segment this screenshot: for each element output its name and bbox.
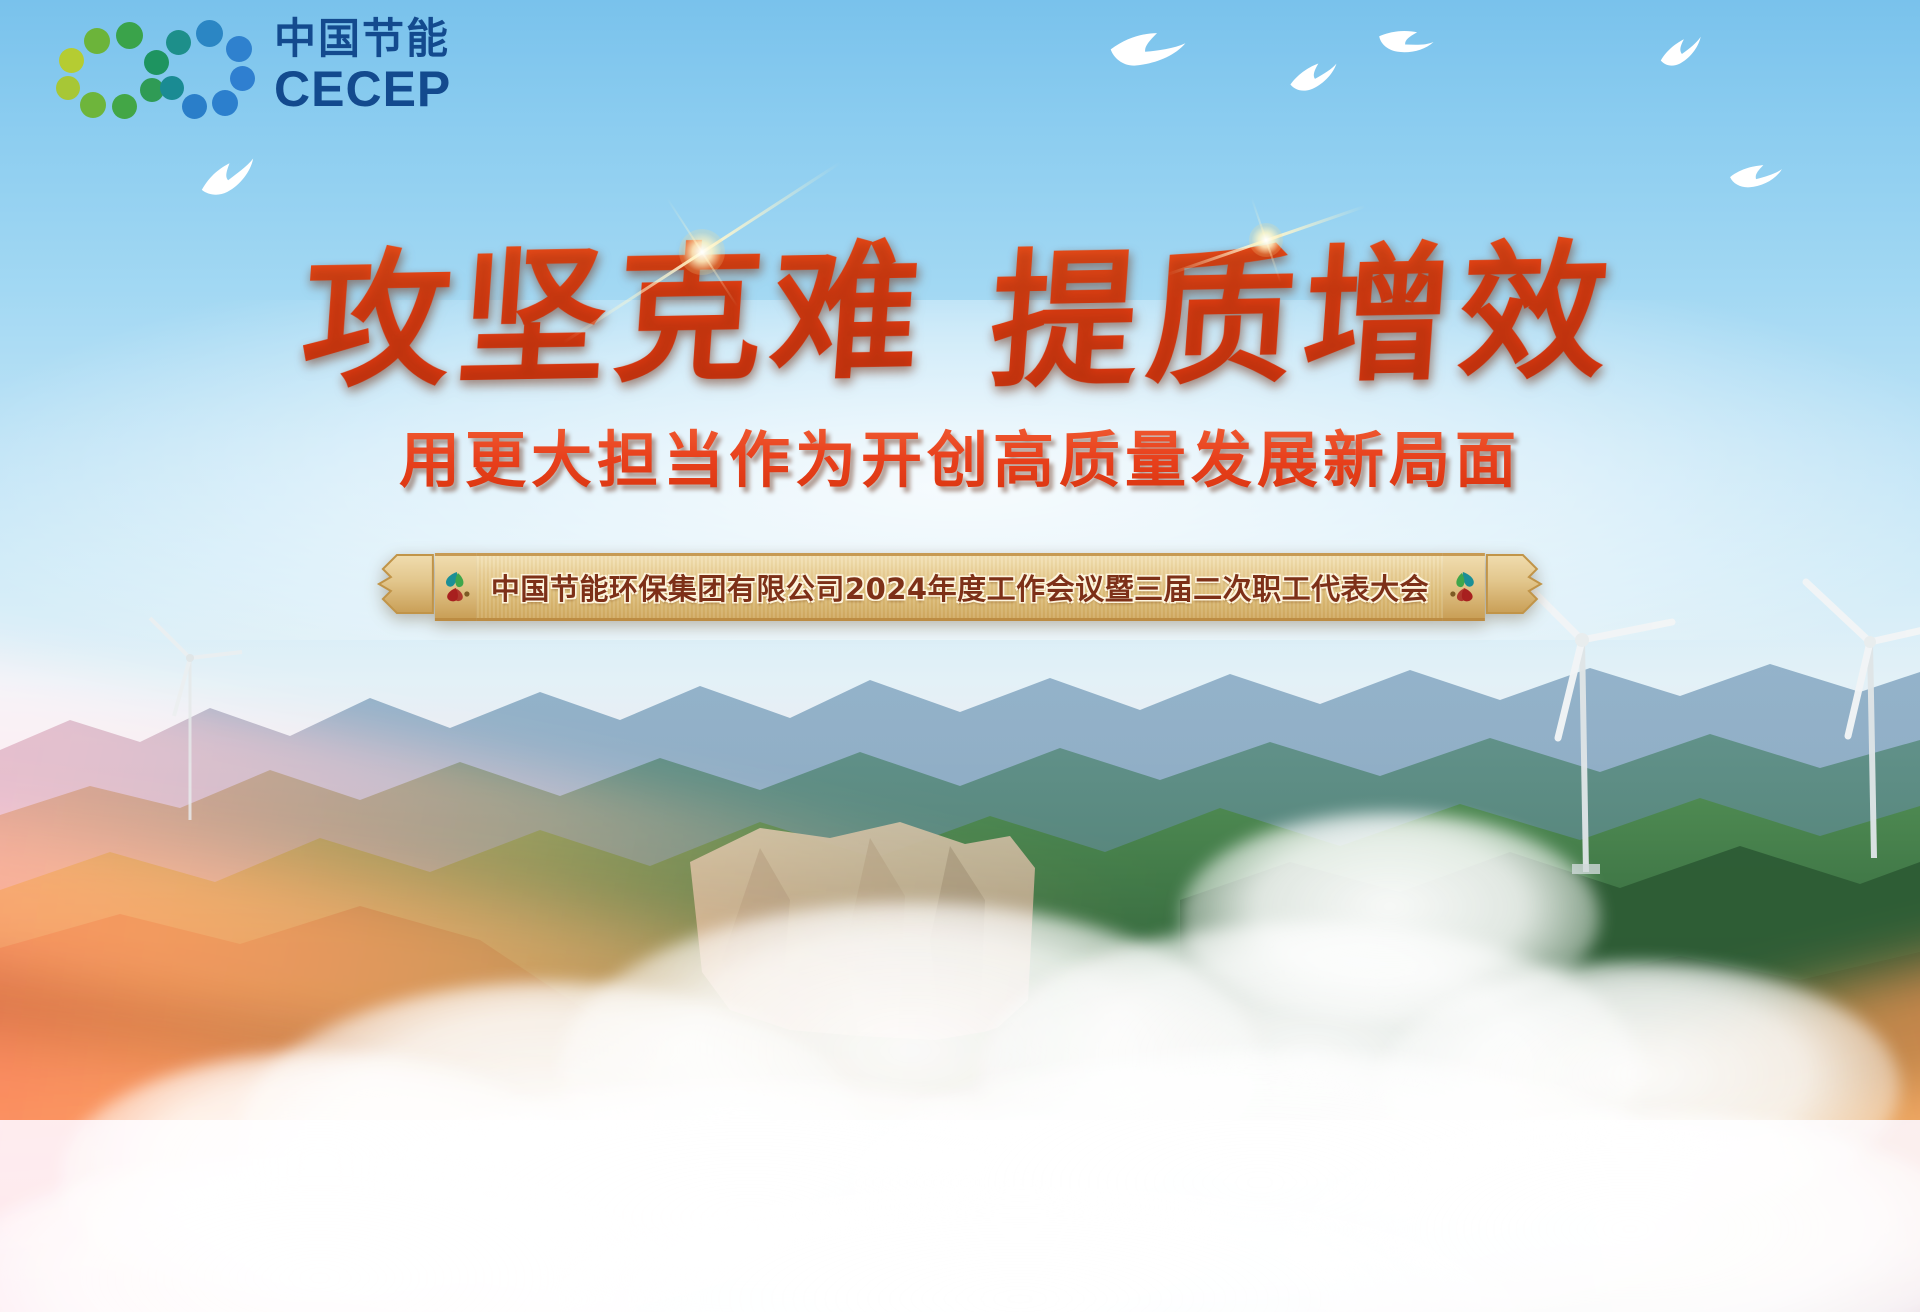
banner-title-text: 中国节能环保集团有限公司2024年度工作会议暨三届二次职工代表大会 [491,566,1429,608]
banner-left-ornament [377,553,435,621]
cecep-name-en: CECEP [274,64,451,114]
leaf-emblem-right-icon [1443,553,1485,621]
wind-turbine-right [1782,572,1920,867]
banner-right-ornament [1485,553,1543,621]
poster-canvas: 中国节能 CECEP 攻坚克难 提质增效 用更大担当作为开创高质量发展新局面 [0,0,1920,1312]
banner-body: 中国节能环保集团有限公司2024年度工作会议暨三届二次职工代表大会 [477,553,1443,621]
cecep-name-cn: 中国节能 [274,18,451,60]
leaf-emblem-left-icon [435,553,477,621]
cecep-logo-text: 中国节能 CECEP [274,18,451,114]
dove-icon-3 [1286,59,1341,99]
cecep-infinity-dots-logo-icon [54,20,254,112]
wind-turbine-left [130,612,250,827]
cecep-logo: 中国节能 CECEP [54,18,451,114]
conference-banner: 中国节能环保集团有限公司2024年度工作会议暨三届二次职工代表大会 [377,553,1543,621]
